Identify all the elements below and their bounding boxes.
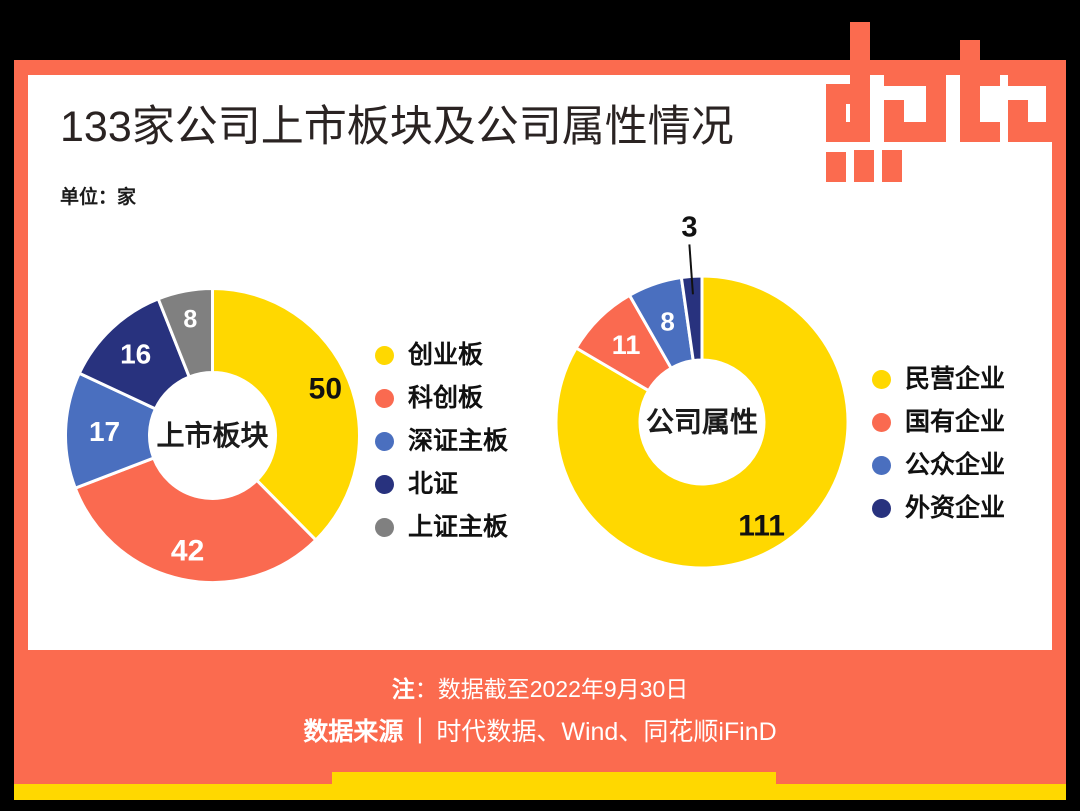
pie-value-label: 111	[738, 510, 785, 543]
pie-value-label: 8	[660, 307, 674, 337]
legend-color-swatch-icon	[872, 499, 891, 518]
legend-item-label: 上证主板	[408, 515, 508, 540]
pie-value-label: 3	[681, 211, 697, 243]
legend-item-label: 深证主板	[408, 429, 508, 454]
footer-source-sep: ｜	[403, 718, 436, 746]
donut-chart-company-type-svg: 1111183 公司属性	[556, 276, 848, 568]
donut-center-label: 上市板块	[156, 419, 268, 451]
pie-value-label: 17	[89, 416, 120, 447]
legend-item[interactable]: 公众企业	[872, 444, 1005, 487]
footer-source-text: 时代数据、Wind、同花顺iFinD	[436, 718, 776, 746]
legend-item-label: 国有企业	[905, 410, 1005, 435]
page-title: 133家公司上市板块及公司属性情况	[60, 103, 734, 151]
brand-logo-icon	[818, 22, 1066, 182]
unit-subtitle: 单位：家	[60, 182, 136, 209]
legend-color-swatch-icon	[872, 370, 891, 389]
footer-source: 数据来源｜时代数据、Wind、同花顺iFinD	[303, 720, 776, 745]
pie-value-label: 8	[183, 306, 197, 334]
footer-note-text: 数据截至2022年9月30日	[438, 676, 689, 702]
donut-chart-listing-board: 504217168 上市板块	[60, 283, 365, 588]
legend-item[interactable]: 民营企业	[872, 358, 1005, 401]
donut-chart-company-type: 1111183 公司属性	[556, 276, 848, 568]
legend-item-label: 科创板	[408, 386, 483, 411]
footer: 注：数据截至2022年9月30日 数据来源｜时代数据、Wind、同花顺iFinD	[14, 650, 1066, 772]
infographic-root: 133家公司上市板块及公司属性情况 单位：家	[0, 0, 1080, 811]
brand-logo	[818, 22, 1066, 182]
legend-listing-board: 创业板科创板深证主板北证上证主板	[375, 334, 508, 549]
legend-item[interactable]: 外资企业	[872, 487, 1005, 530]
donut-center-label: 公司属性	[646, 407, 758, 438]
legend-color-swatch-icon	[872, 413, 891, 432]
legend-item[interactable]: 国有企业	[872, 401, 1005, 444]
legend-color-swatch-icon	[872, 456, 891, 475]
footer-source-label: 数据来源	[303, 718, 403, 746]
bottom-accent-bar-center	[332, 772, 776, 800]
legend-item[interactable]: 上证主板	[375, 506, 508, 549]
pie-value-label: 50	[309, 373, 342, 406]
legend-item-label: 北证	[408, 472, 458, 497]
legend-color-swatch-icon	[375, 389, 394, 408]
legend-color-swatch-icon	[375, 346, 394, 365]
legend-color-swatch-icon	[375, 432, 394, 451]
legend-item-label: 创业板	[408, 343, 483, 368]
legend-color-swatch-icon	[375, 475, 394, 494]
legend-company-type: 民营企业国有企业公众企业外资企业	[872, 358, 1005, 530]
legend-color-swatch-icon	[375, 518, 394, 537]
footer-note: 注：数据截至2022年9月30日	[392, 678, 689, 701]
legend-item[interactable]: 深证主板	[375, 420, 508, 463]
footer-note-label: 注	[392, 676, 415, 702]
donut-chart-listing-board-svg: 504217168 上市板块	[60, 283, 365, 588]
pie-value-label: 16	[120, 339, 151, 370]
legend-item-label: 民营企业	[905, 367, 1005, 392]
legend-item-label: 外资企业	[905, 496, 1005, 521]
footer-note-sep: ：	[415, 676, 438, 702]
legend-item-label: 公众企业	[905, 453, 1005, 478]
legend-item[interactable]: 科创板	[375, 377, 508, 420]
legend-item[interactable]: 创业板	[375, 334, 508, 377]
legend-item[interactable]: 北证	[375, 463, 508, 506]
pie-value-label: 42	[171, 534, 204, 567]
pie-value-label: 11	[612, 330, 641, 360]
